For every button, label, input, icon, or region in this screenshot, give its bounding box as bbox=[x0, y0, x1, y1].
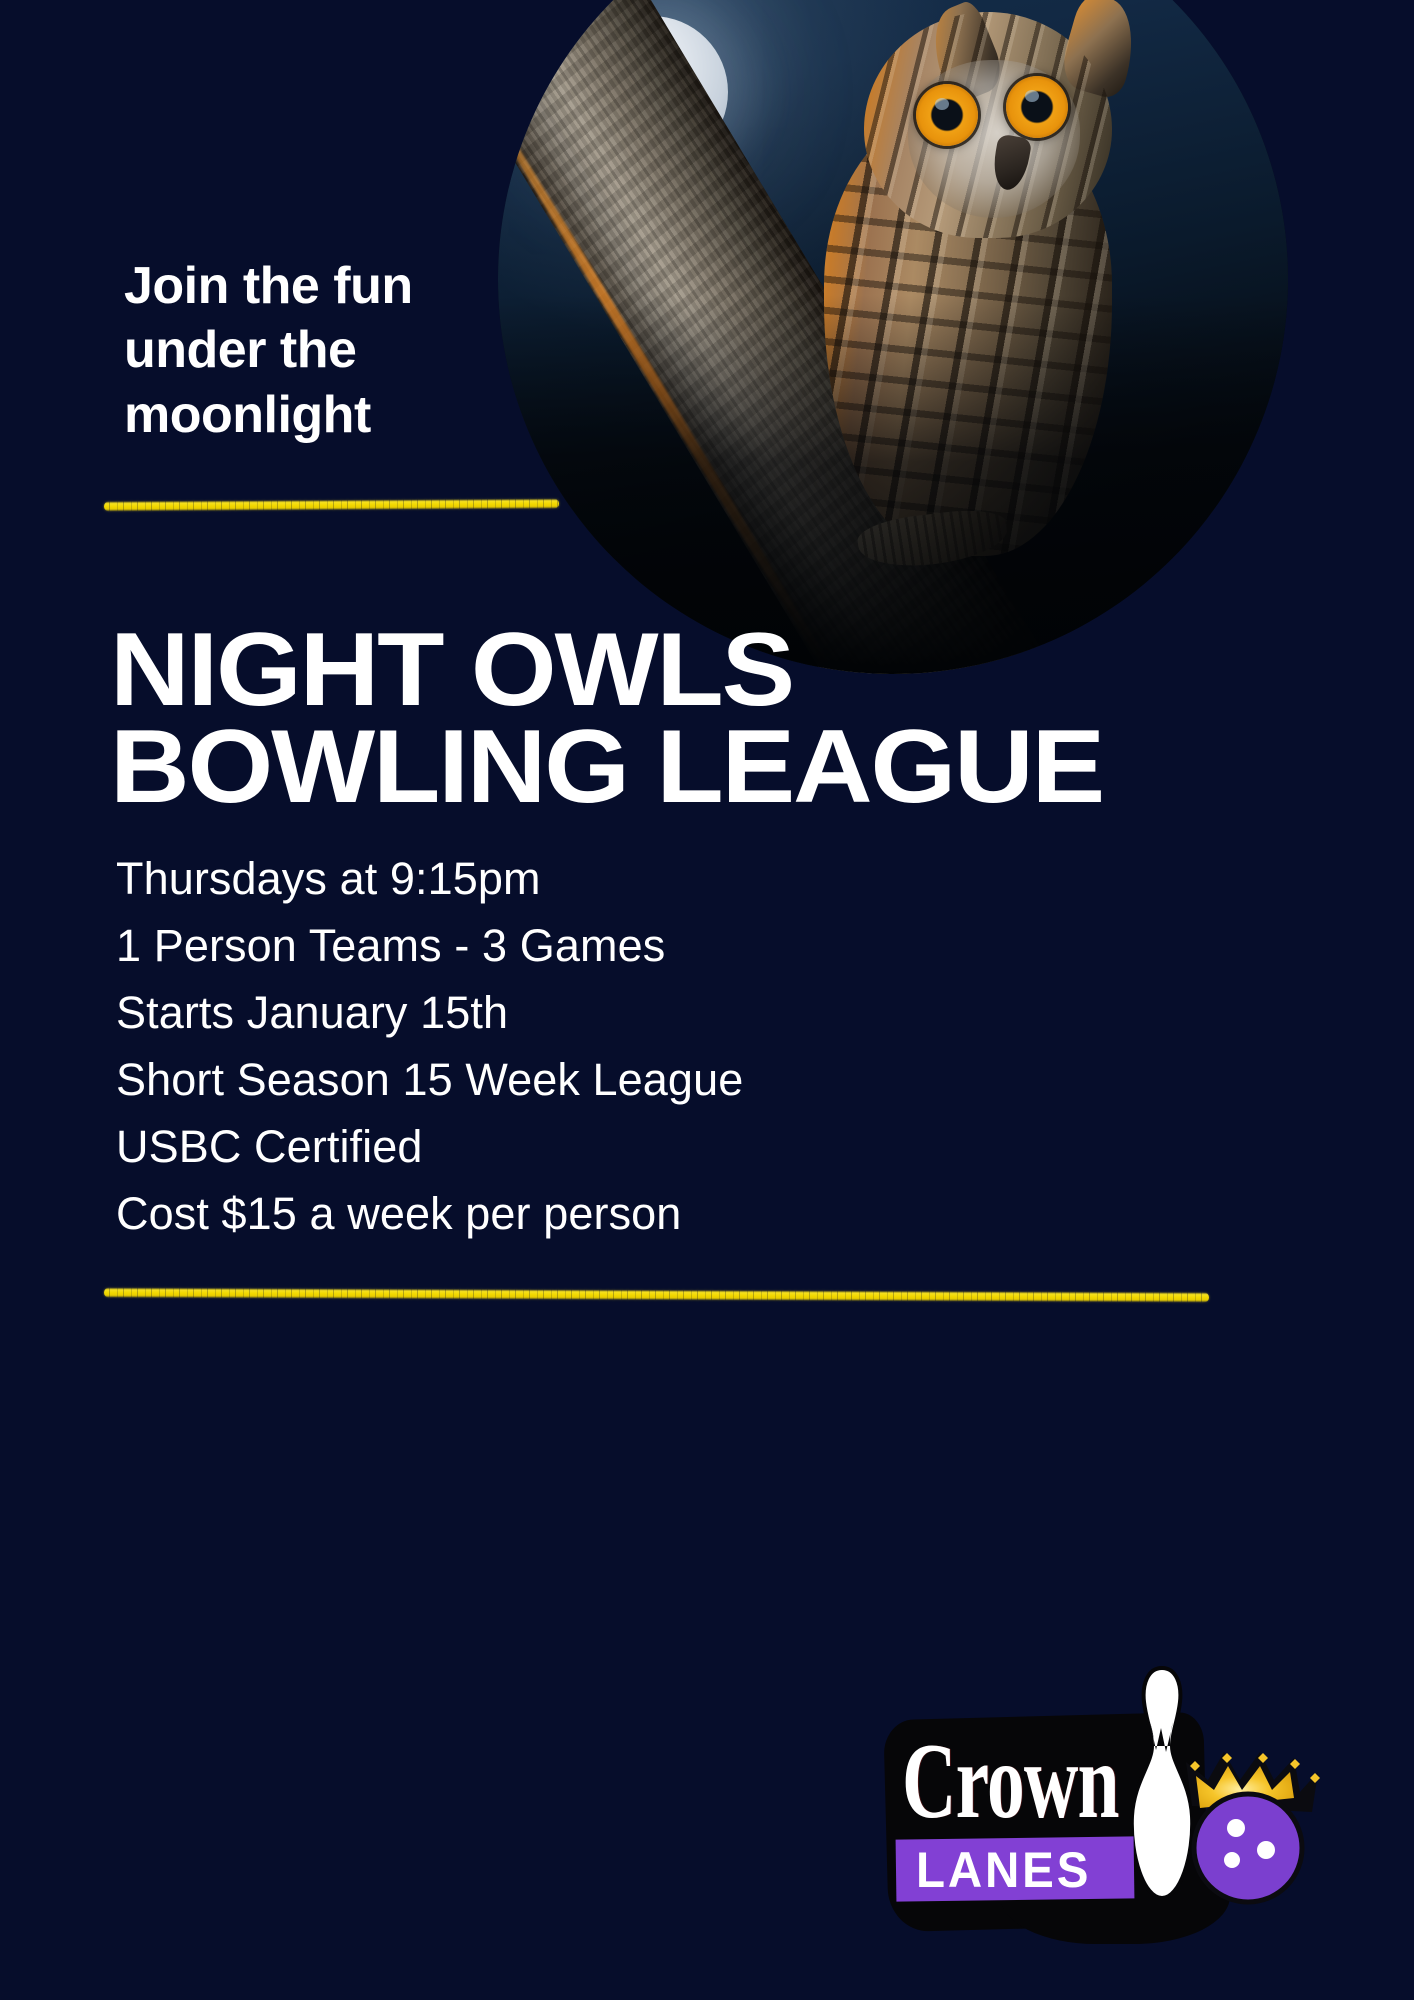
owl-ear-tuft-right bbox=[1056, 0, 1146, 101]
owl-photo-circle bbox=[498, 0, 1288, 674]
bowling-ball-with-crown-icon bbox=[1178, 1746, 1330, 1906]
detail-line: Cost $15 a week per person bbox=[116, 1180, 1096, 1247]
detail-line: Thursdays at 9:15pm bbox=[116, 845, 1096, 912]
logo-lanes-word: LANES bbox=[916, 1842, 1091, 1898]
detail-line: USBC Certified bbox=[116, 1113, 1096, 1180]
detail-line: 1 Person Teams - 3 Games bbox=[116, 912, 1096, 979]
night-sky-background bbox=[498, 0, 1288, 674]
crown-lanes-logo: Crown LANES bbox=[880, 1660, 1280, 1950]
logo-crown-word: Crown bbox=[902, 1726, 1119, 1835]
divider-bottom bbox=[104, 1288, 1209, 1303]
detail-line: Starts January 15th bbox=[116, 979, 1096, 1046]
poster-canvas: Join the fun under the moonlight NIGHT O… bbox=[0, 0, 1414, 2000]
league-details-list: Thursdays at 9:15pm 1 Person Teams - 3 G… bbox=[116, 845, 1096, 1247]
owl-eye-left bbox=[916, 84, 978, 146]
kicker-text: Join the fun under the moonlight bbox=[124, 254, 464, 447]
headline-line-1: NIGHT OWLS bbox=[110, 622, 1255, 719]
owl-eye-right bbox=[1006, 76, 1068, 138]
divider-top bbox=[104, 499, 559, 512]
detail-line: Short Season 15 Week League bbox=[116, 1046, 1096, 1113]
page-title: NIGHT OWLS BOWLING LEAGUE bbox=[110, 622, 1255, 815]
headline-line-2: BOWLING LEAGUE bbox=[110, 719, 1255, 816]
